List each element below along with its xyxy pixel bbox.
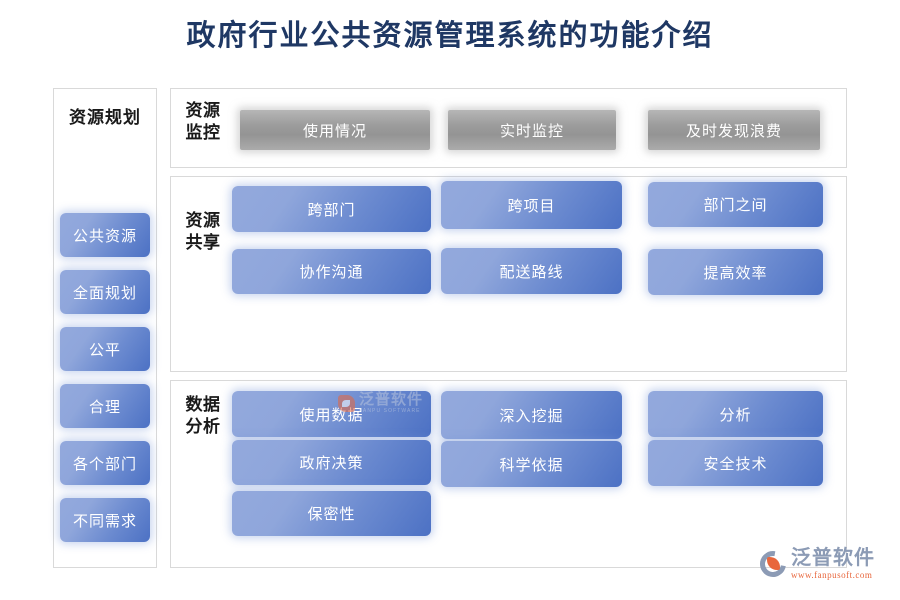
section-label-share: 资源 共享 <box>180 210 226 254</box>
section-label-line2: 监控 <box>180 122 226 144</box>
item-label: 提高效率 <box>703 262 767 283</box>
sidebar-item-label: 公共资源 <box>73 225 137 246</box>
share-item-tigaoxiaolv[interactable]: 提高效率 <box>648 249 823 295</box>
section-label-line1: 数据 <box>180 394 226 416</box>
share-item-xiezuogoutong[interactable]: 协作沟通 <box>232 249 431 294</box>
sidebar-item-gegebumen[interactable]: 各个部门 <box>60 441 150 485</box>
data-item-zhengfujuece[interactable]: 政府决策 <box>232 440 431 485</box>
fanpu-logo-icon <box>760 551 786 577</box>
item-label: 部门之间 <box>703 194 767 215</box>
data-item-baomixing[interactable]: 保密性 <box>232 491 431 536</box>
sidebar-item-label: 公平 <box>89 339 121 360</box>
item-label: 政府决策 <box>299 452 363 473</box>
logo-brand-cn: 泛普软件 <box>791 548 875 568</box>
item-label: 保密性 <box>307 503 355 524</box>
share-item-bumenzhijian[interactable]: 部门之间 <box>648 182 823 227</box>
share-item-peisonglxian[interactable]: 配送路线 <box>441 248 622 294</box>
logo-url: www.fanpusoft.com <box>791 571 875 580</box>
item-label: 深入挖掘 <box>499 405 563 426</box>
sidebar-item-gongping[interactable]: 公平 <box>60 327 150 371</box>
data-item-shenruwajue[interactable]: 深入挖掘 <box>441 391 622 439</box>
monitor-item-shiyongqingkuang[interactable]: 使用情况 <box>240 110 430 150</box>
sidebar-item-gonggongziyuan[interactable]: 公共资源 <box>60 213 150 257</box>
data-item-kexueyiju[interactable]: 科学依据 <box>441 441 622 487</box>
item-label: 实时监控 <box>500 120 564 141</box>
sidebar-item-butongxuqiu[interactable]: 不同需求 <box>60 498 150 542</box>
share-item-kuabumen[interactable]: 跨部门 <box>232 186 431 232</box>
slide-canvas: 政府行业公共资源管理系统的功能介绍 资源规划 公共资源 全面规划 公平 合理 各… <box>0 0 900 600</box>
item-label: 科学依据 <box>499 454 563 475</box>
section-label-line1: 资源 <box>180 100 226 122</box>
item-label: 配送路线 <box>499 261 563 282</box>
sidebar-item-heli[interactable]: 合理 <box>60 384 150 428</box>
item-label: 跨部门 <box>307 199 355 220</box>
sidebar-item-label: 全面规划 <box>73 282 137 303</box>
section-label-line2: 共享 <box>180 232 226 254</box>
item-label: 使用数据 <box>299 404 363 425</box>
sidebar-item-label: 合理 <box>89 396 121 417</box>
share-item-kuaxiangmu[interactable]: 跨项目 <box>441 181 622 229</box>
data-item-shiyongshuju[interactable]: 使用数据 <box>232 391 431 437</box>
item-label: 跨项目 <box>507 195 555 216</box>
section-label-monitor: 资源 监控 <box>180 100 226 144</box>
sidebar-item-quanmianguihua[interactable]: 全面规划 <box>60 270 150 314</box>
page-title: 政府行业公共资源管理系统的功能介绍 <box>0 12 900 54</box>
monitor-item-jishifaxianlangfei[interactable]: 及时发现浪费 <box>648 110 820 150</box>
section-label-line1: 资源 <box>180 210 226 232</box>
item-label: 分析 <box>719 404 751 425</box>
sidebar-item-label: 不同需求 <box>73 510 137 531</box>
data-item-fenxi[interactable]: 分析 <box>648 391 823 437</box>
item-label: 协作沟通 <box>299 261 363 282</box>
sidebar-item-label: 各个部门 <box>73 453 137 474</box>
item-label: 使用情况 <box>303 120 367 141</box>
corner-logo: 泛普软件 www.fanpusoft.com <box>760 548 875 580</box>
sidebar-title: 资源规划 <box>53 103 157 128</box>
data-item-anquanjishu[interactable]: 安全技术 <box>648 440 823 486</box>
item-label: 安全技术 <box>703 453 767 474</box>
monitor-item-shishijiankong[interactable]: 实时监控 <box>448 110 616 150</box>
item-label: 及时发现浪费 <box>686 120 782 141</box>
section-label-line2: 分析 <box>180 416 226 438</box>
section-label-data: 数据 分析 <box>180 394 226 438</box>
